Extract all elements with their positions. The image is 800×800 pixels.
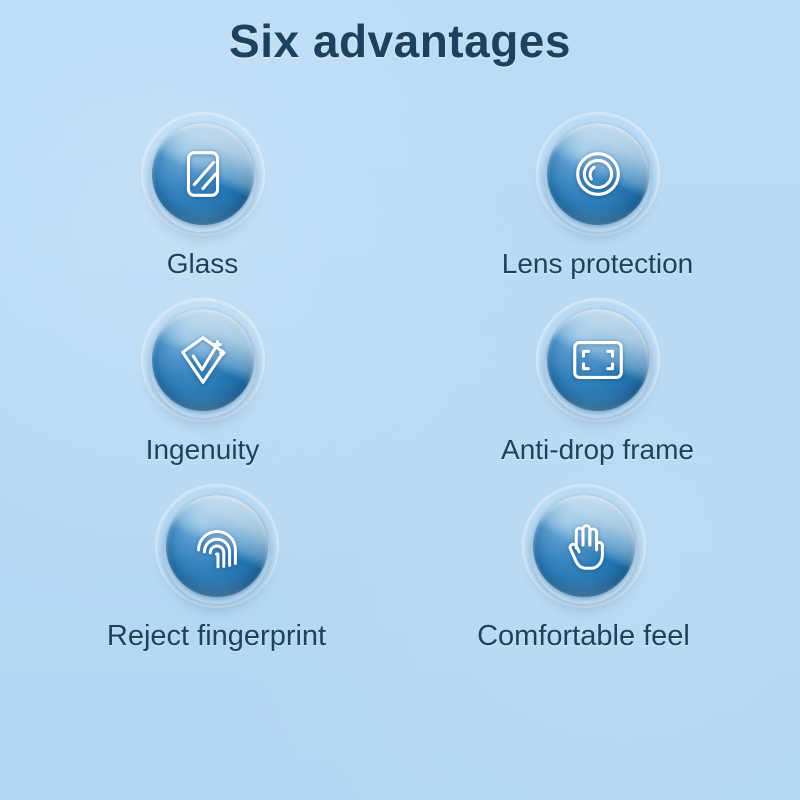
advantage-item-reject-fingerprint[interactable]: Reject fingerprint [89,484,344,653]
camera-lens-icon [567,143,629,205]
six-advantages-page: Six advantages [0,0,800,800]
glass-screen-protector-icon [172,143,234,205]
advantage-item-anti-drop-frame[interactable]: Anti-drop frame [470,298,725,466]
diamond-check-sparkle-icon [172,329,234,391]
advantage-item-glass[interactable]: Glass [75,112,330,280]
advantage-label: Anti-drop frame [501,434,694,466]
badge-reject-fingerprint[interactable] [155,484,279,608]
advantages-row: Ingenuity [0,298,800,466]
badge-disc [152,123,254,225]
badge-glass[interactable] [141,112,265,236]
advantage-label: Comfortable feel [477,620,690,653]
advantage-label: Ingenuity [146,434,260,466]
advantage-item-lens-protection[interactable]: Lens protection [470,112,725,280]
badge-lens-protection[interactable] [536,112,660,236]
badge-disc [533,495,635,597]
advantages-grid: Glass [0,112,800,671]
advantage-label: Reject fingerprint [107,620,326,653]
hand-palm-icon [553,515,615,577]
badge-disc [166,495,268,597]
advantages-row: Glass [0,112,800,280]
advantage-item-ingenuity[interactable]: Ingenuity [75,298,330,466]
page-title: Six advantages [0,14,800,68]
badge-anti-drop-frame[interactable] [536,298,660,422]
corner-brackets-frame-icon [567,329,629,391]
badge-ingenuity[interactable] [141,298,265,422]
badge-disc [547,123,649,225]
fingerprint-icon [186,515,248,577]
badge-disc [547,309,649,411]
badge-disc [152,309,254,411]
advantage-label: Lens protection [502,248,693,280]
advantage-label: Glass [167,248,239,280]
advantages-row: Reject fingerprint [0,484,800,653]
badge-comfortable-feel[interactable] [522,484,646,608]
advantage-item-comfortable-feel[interactable]: Comfortable feel [456,484,711,653]
